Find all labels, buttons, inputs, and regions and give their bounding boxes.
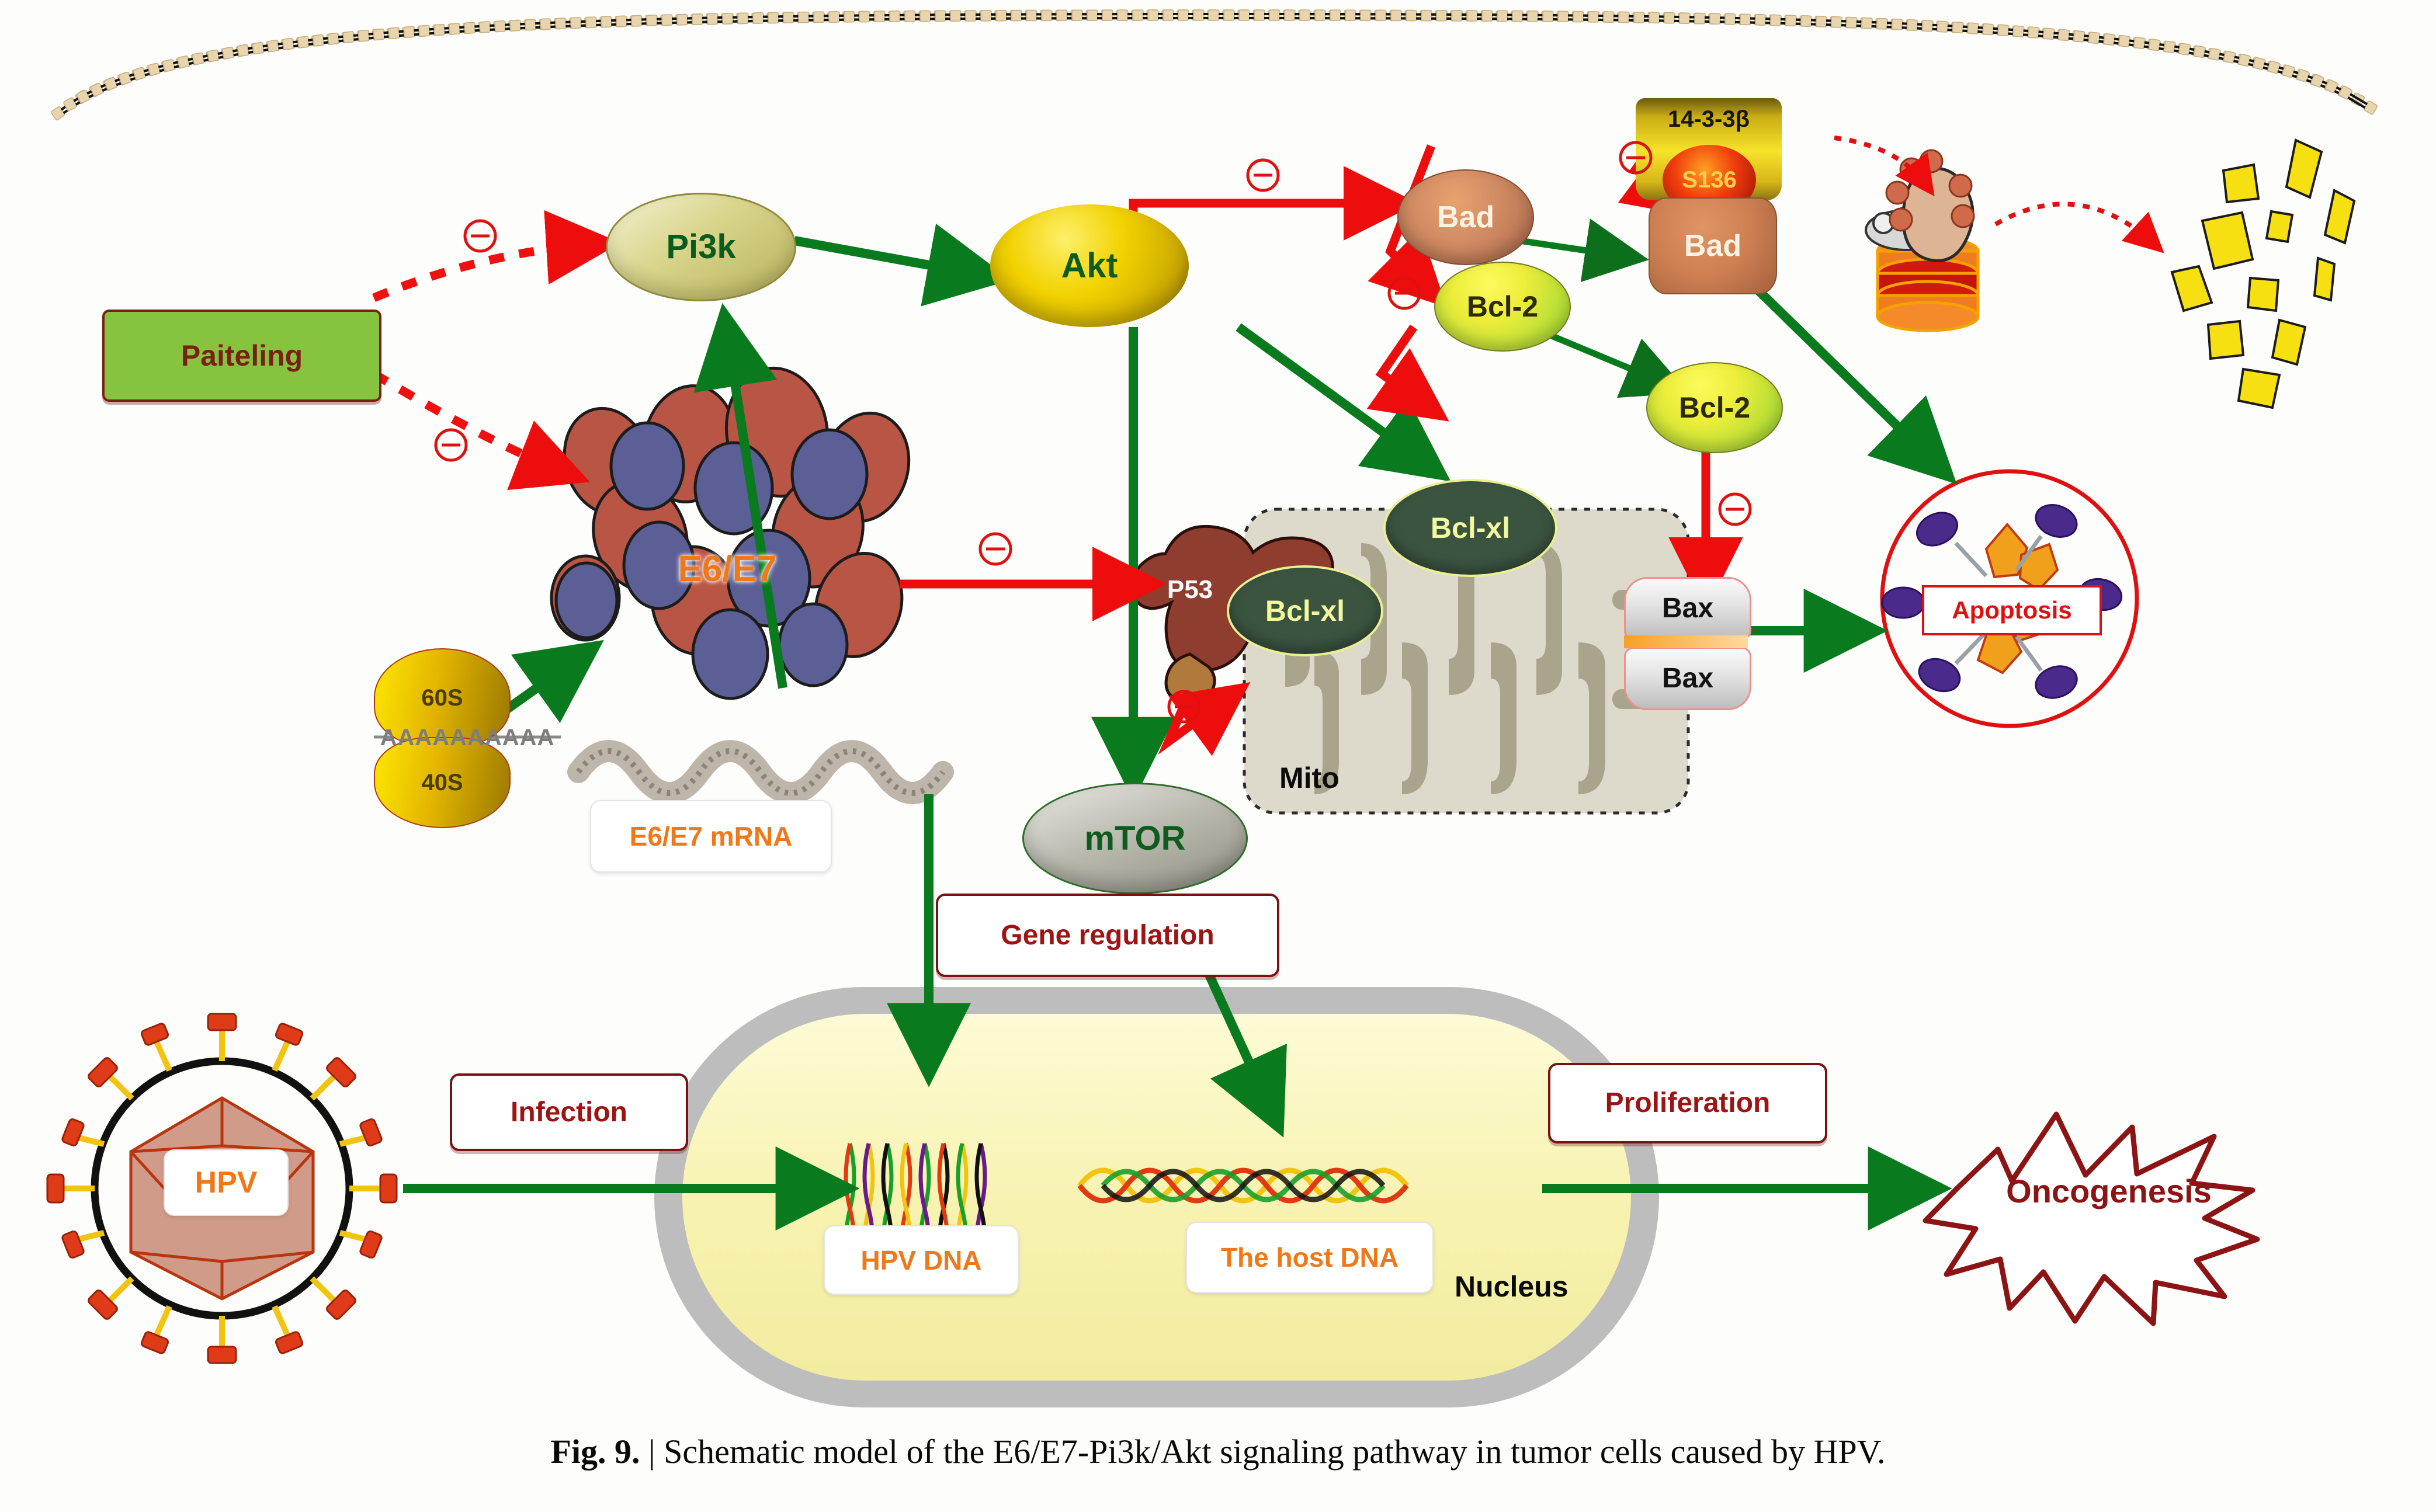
inhibition-marker-p53-bclxl: [1165, 688, 1203, 728]
proteasome-shape: [1866, 150, 1978, 331]
inhibition-marker-akt-bad: [1244, 157, 1282, 197]
oncogenesis-starburst: [1925, 1114, 2257, 1323]
label-host-dna: The host DNA: [1186, 1222, 1434, 1293]
degraded-fragments: [2172, 140, 2354, 408]
node-bax-top[interactable]: Bax: [1624, 577, 1751, 640]
plasma-membrane: [51, 10, 2378, 120]
label-polya-tail: AAAAAAAAAA: [374, 723, 561, 752]
e6e7-protein-cluster: [551, 362, 921, 698]
host-dna-strand: [1080, 1170, 1407, 1201]
label-oncogenesis: Oncogenesis: [1975, 1168, 2243, 1215]
inhibition-marker-e6e7-p53: [977, 530, 1014, 571]
bax-pore: [1624, 635, 1748, 648]
inhibition-marker-1433b-bad: [1617, 139, 1654, 179]
label-apoptosis: Apoptosis: [1922, 585, 2102, 635]
caption-text: Schematic model of the E6/E7-Pi3k/Akt si…: [664, 1433, 1885, 1471]
caption-prefix: Fig. 9.: [550, 1433, 640, 1471]
inhibition-marker-bad-bcl2: [1386, 274, 1423, 315]
label-e6e7-mrna: E6/E7 mRNA: [590, 800, 832, 873]
e6e7-mrna-strand: [578, 751, 943, 793]
inhibition-marker-bcl2-bax: [1716, 491, 1754, 531]
node-bcl-xl-inner[interactable]: Bcl-xl: [1227, 565, 1383, 656]
node-bcl2-lower[interactable]: Bcl-2: [1646, 362, 1783, 453]
node-bad-left[interactable]: Bad: [1397, 169, 1534, 265]
label-hpv-dna: HPV DNA: [824, 1225, 1019, 1295]
node-bax-bottom[interactable]: Bax: [1624, 647, 1751, 710]
node-paiteling[interactable]: Paiteling: [102, 310, 381, 402]
label-infection[interactable]: Infection: [450, 1073, 688, 1151]
node-mtor[interactable]: mTOR: [1022, 783, 1248, 894]
figure-canvas: Paiteling Pi3k Akt mTOR E6/E7 E6/E7 mRNA…: [0, 0, 2436, 1512]
node-pi3k[interactable]: Pi3k: [606, 193, 796, 301]
inhibition-marker-paiteling-e6e7: [432, 426, 470, 467]
degradation-arrows: [1834, 138, 2156, 245]
label-e6e7: E6/E7: [631, 546, 824, 593]
label-nucleus: Nucleus: [1455, 1266, 1630, 1307]
inhibition-marker-paiteling-pi3k: [461, 217, 499, 258]
node-bad-right[interactable]: Bad: [1649, 197, 1777, 294]
label-proliferation[interactable]: Proliferation: [1548, 1063, 1827, 1143]
node-akt[interactable]: Akt: [990, 204, 1189, 327]
caption-divider: |: [648, 1433, 655, 1471]
label-hpv: HPV: [164, 1149, 289, 1216]
paiteling-inhibition-arrows: [374, 244, 599, 474]
figure-caption: Fig. 9. | Schematic model of the E6/E7-P…: [0, 1432, 2436, 1471]
node-bcl-xl-outer[interactable]: Bcl-xl: [1383, 479, 1557, 577]
node-bcl2-left[interactable]: Bcl-2: [1434, 262, 1571, 352]
label-mito: Mito: [1279, 759, 1408, 797]
label-gene-regulation[interactable]: Gene regulation: [936, 894, 1279, 977]
nucleus-shape: [654, 987, 1659, 1407]
node-p53: P53: [1146, 564, 1234, 616]
